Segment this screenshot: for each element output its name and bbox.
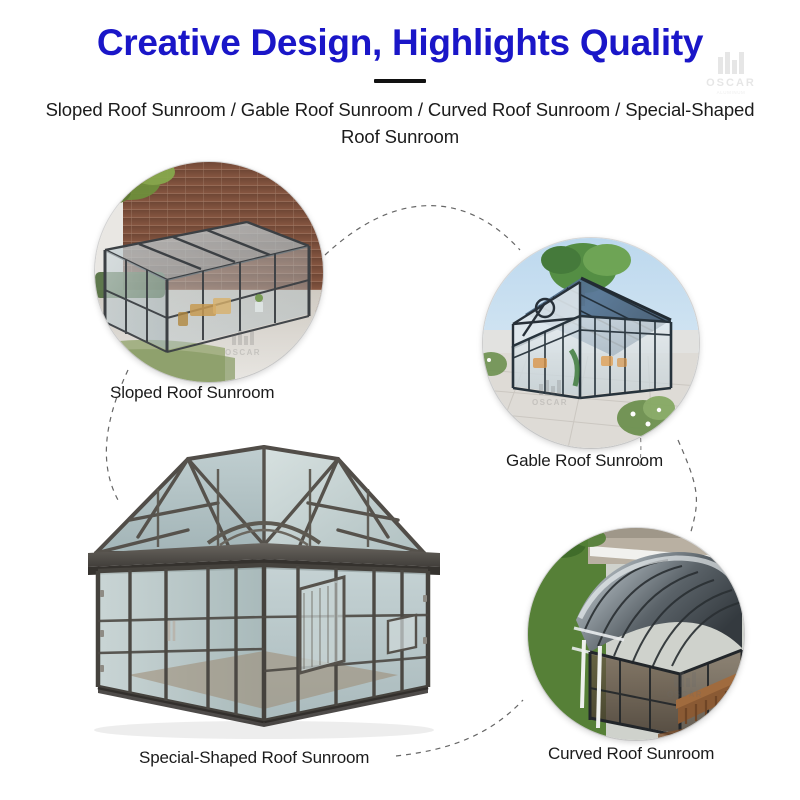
photo-curved-roof-sunroom[interactable] [528,528,744,740]
header: Creative Design, Highlights Quality Slop… [0,0,800,151]
photo-sloped-roof-sunroom[interactable] [95,162,323,382]
caption-gable-roof-sunroom: Gable Roof Sunroom [506,451,663,471]
caption-special-shaped-roof-sunroom: Special-Shaped Roof Sunroom [139,748,369,768]
photo-special-shaped-roof-sunroom[interactable] [68,425,458,745]
title-divider [374,79,426,83]
caption-curved-roof-sunroom: Curved Roof Sunroom [548,744,714,764]
page-title: Creative Design, Highlights Quality [0,24,800,61]
page-root: Creative Design, Highlights Quality Slop… [0,0,800,800]
page-subtitle: Sloped Roof Sunroom / Gable Roof Sunroom… [0,97,800,151]
caption-sloped-roof-sunroom: Sloped Roof Sunroom [110,383,274,403]
photo-gable-roof-sunroom[interactable] [483,238,699,448]
